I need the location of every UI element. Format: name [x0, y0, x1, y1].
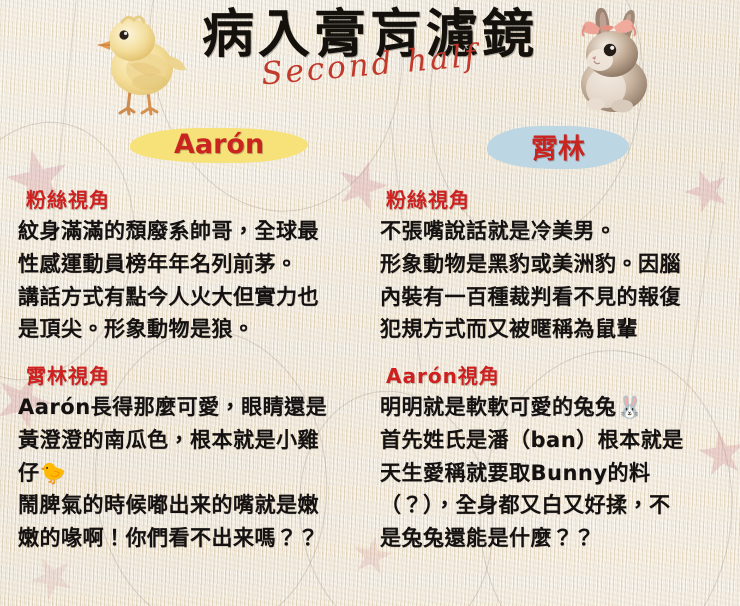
text-line: 明明就是軟軟可愛的兔兔🐰	[380, 391, 726, 424]
character-name-label: Aarón	[174, 129, 264, 160]
text-line: 是頂尖。形象動物是狼。	[18, 313, 364, 346]
text-line: 犯規方式而又被暱稱為鼠輩	[380, 313, 726, 346]
poster-page: 病入膏肓濾鏡 Second half Aarón 霄林 粉絲視角 紋身滿滿的頹廢…	[0, 0, 740, 606]
text-line: 天生愛稱就要取Bunny的料	[380, 457, 726, 490]
text-line: 形象動物是黑豹或美洲豹。因腦	[380, 248, 726, 281]
section-fan-perspective: 粉絲視角 紋身滿滿的頹廢系帥哥，全球最 性感運動員榜年年名列前茅。 講話方式有點…	[16, 184, 364, 346]
text-line: 鬧脾氣的時候嘟出来的嘴就是嫩	[18, 489, 364, 522]
text-line: 黃澄澄的南瓜色，根本就是小雞	[18, 424, 364, 457]
poster-header: 病入膏肓濾鏡 Second half	[0, 0, 740, 124]
section-heading: 粉絲視角	[386, 184, 726, 213]
text-line: 性感運動員榜年年名列前茅。	[18, 248, 364, 281]
section-heading: Aarón視角	[386, 360, 726, 389]
text-line: Aarón長得那麼可愛，眼睛還是	[18, 391, 364, 424]
title-block: 病入膏肓濾鏡 Second half	[0, 8, 740, 83]
column-xiaolin: 粉絲視角 不張嘴說話就是冷美男。 形象動物是黑豹或美洲豹。因腦 內裝有一百種裁判…	[378, 182, 726, 569]
text-line: 仔🐤	[18, 457, 364, 490]
character-name-row: Aarón 霄林	[0, 124, 740, 176]
text-line: （？），全身都又白又好揉，不	[380, 489, 726, 522]
text-line: 嫩的喙啊！你們看不出来嗎？？	[18, 522, 364, 555]
text-line: 紋身滿滿的頹廢系帥哥，全球最	[18, 215, 364, 248]
section-paragraph: Aarón長得那麼可愛，眼睛還是 黃澄澄的南瓜色，根本就是小雞 仔🐤 鬧脾氣的時…	[18, 391, 364, 555]
text-line: 不張嘴說話就是冷美男。	[380, 215, 726, 248]
section-paragraph: 不張嘴說話就是冷美男。 形象動物是黑豹或美洲豹。因腦 內裝有一百種裁判看不見的報…	[380, 215, 726, 346]
section-heading: 霄林視角	[26, 360, 364, 389]
content-columns: 粉絲視角 紋身滿滿的頹廢系帥哥，全球最 性感運動員榜年年名列前茅。 講話方式有點…	[0, 176, 740, 569]
character-name-badge-right: 霄林	[505, 124, 611, 171]
text-line: 首先姓氏是潘（ban）根本就是	[380, 424, 726, 457]
column-aaron: 粉絲視角 紋身滿滿的頹廢系帥哥，全球最 性感運動員榜年年名列前茅。 講話方式有點…	[16, 182, 364, 569]
character-name-label: 霄林	[531, 134, 585, 165]
text-line: 內裝有一百種裁判看不見的報復	[380, 281, 726, 314]
section-fan-perspective: 粉絲視角 不張嘴說話就是冷美男。 形象動物是黑豹或美洲豹。因腦 內裝有一百種裁判…	[378, 184, 726, 346]
section-aaron-perspective: Aarón視角 明明就是軟軟可愛的兔兔🐰 首先姓氏是潘（ban）根本就是 天生愛…	[378, 360, 726, 555]
section-heading: 粉絲視角	[26, 184, 364, 213]
character-name-badge-left: Aarón	[148, 126, 290, 165]
section-xiaolin-perspective: 霄林視角 Aarón長得那麼可愛，眼睛還是 黃澄澄的南瓜色，根本就是小雞 仔🐤 …	[16, 360, 364, 555]
section-paragraph: 明明就是軟軟可愛的兔兔🐰 首先姓氏是潘（ban）根本就是 天生愛稱就要取Bunn…	[380, 391, 726, 555]
text-line: 是兔兔還能是什麼？？	[380, 522, 726, 555]
text-line: 講話方式有點今人火大但實力也	[18, 281, 364, 314]
section-paragraph: 紋身滿滿的頹廢系帥哥，全球最 性感運動員榜年年名列前茅。 講話方式有點今人火大但…	[18, 215, 364, 346]
